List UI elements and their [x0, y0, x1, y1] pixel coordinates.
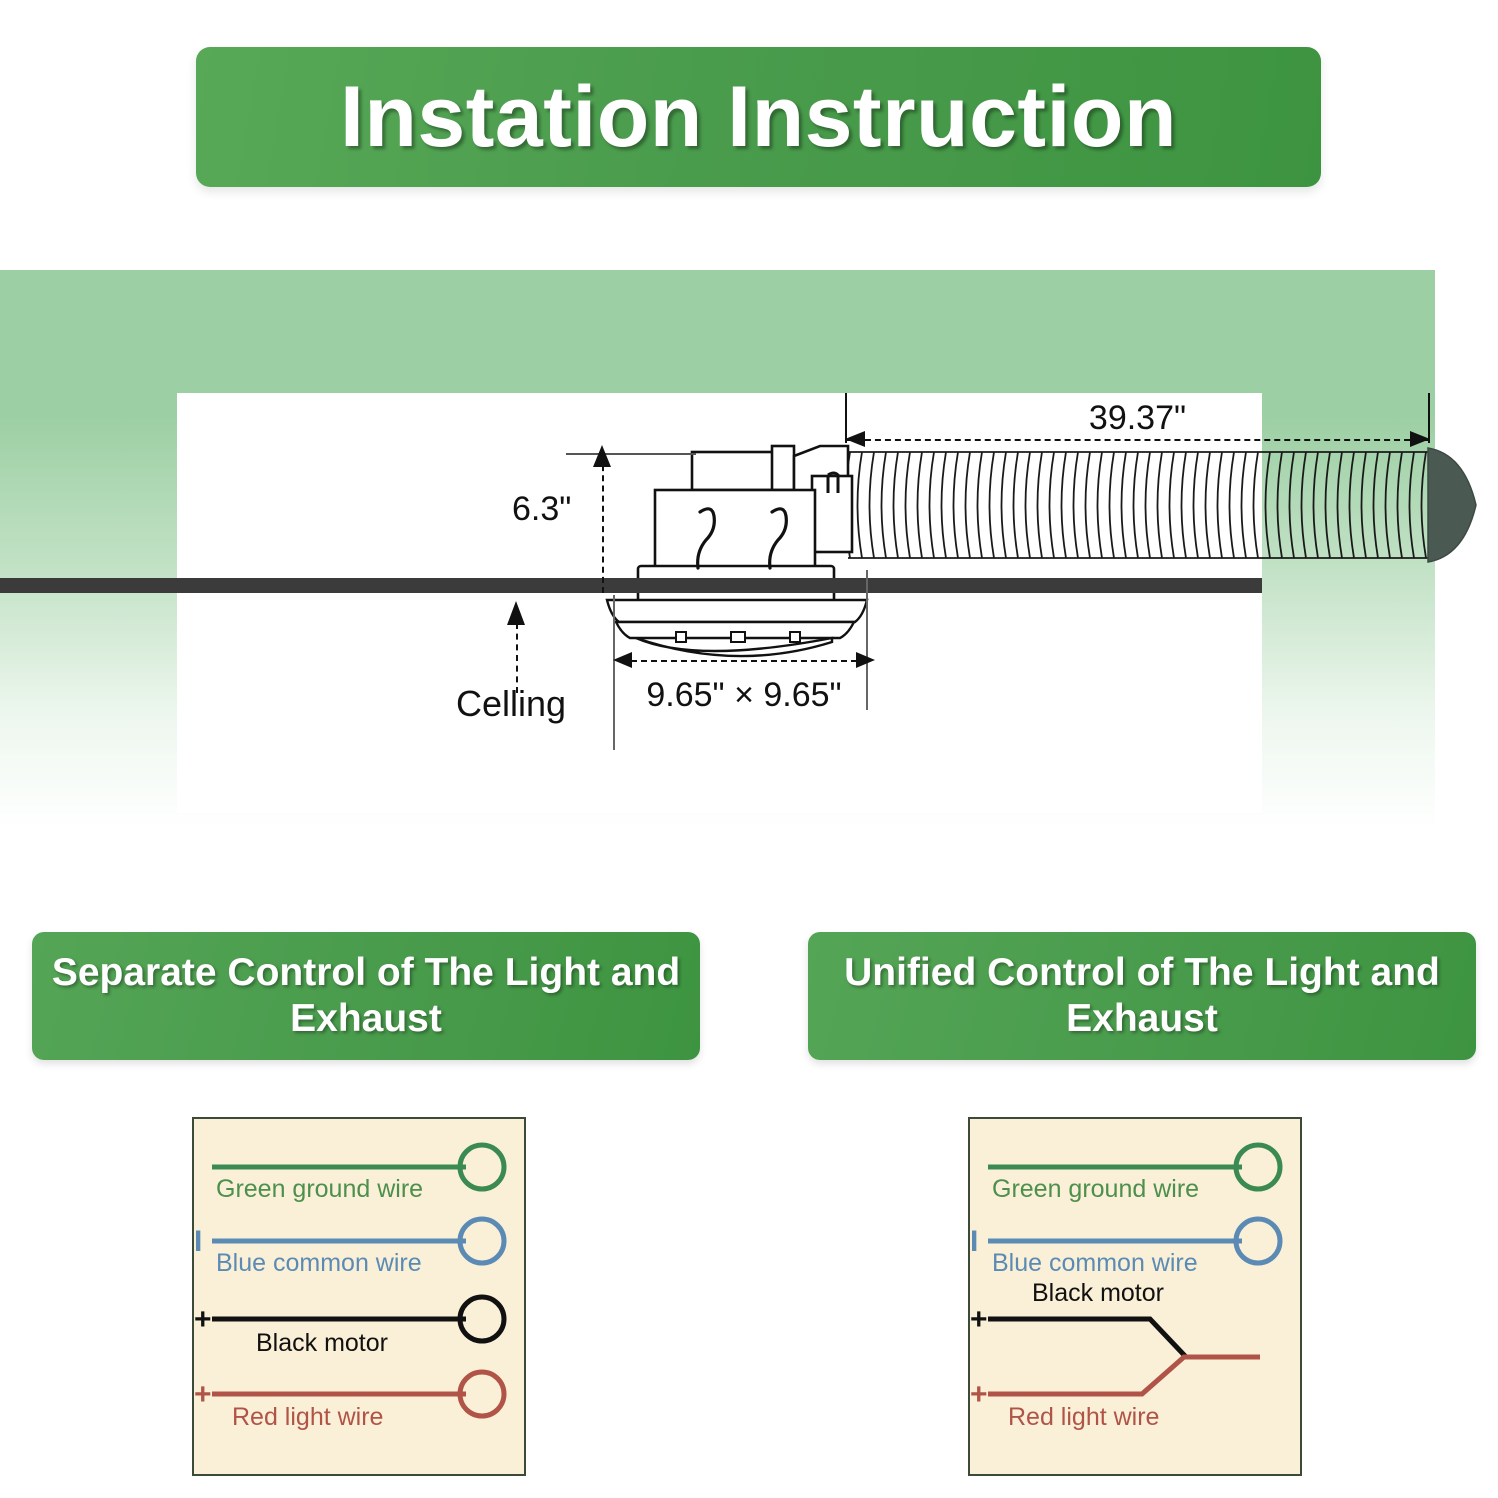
- ceiling-grille: [607, 600, 867, 656]
- wire-label-black: Black motor: [1032, 1279, 1164, 1307]
- terminal-circle-red: [460, 1372, 504, 1416]
- fan-and-duct-drawing: [0, 270, 1498, 830]
- section-header-label: Separate Control of The Light and Exhaus…: [32, 950, 700, 1042]
- installation-diagram: 39.37" 6.3" Celling 9.65" × 9.65": [0, 270, 1498, 830]
- wire-red-light: + Red light wire: [194, 1372, 504, 1431]
- wire-marker-black: +: [194, 1303, 212, 1336]
- wire-label-red: Red light wire: [232, 1403, 383, 1431]
- ceiling-arrow-up-icon: [507, 601, 525, 625]
- terminal-circle-green: [460, 1145, 504, 1189]
- height-extension-line: [566, 453, 696, 455]
- wire-green-ground: Green ground wire: [212, 1145, 504, 1203]
- terminal-circle-black: [460, 1297, 504, 1341]
- ceiling-slab: [0, 578, 1262, 593]
- wire-marker-blue: I: [194, 1225, 202, 1258]
- terminal-circle-blue: [1236, 1219, 1280, 1263]
- height-dimension-line: [602, 455, 604, 593]
- section-header-label: Unified Control of The Light and Exhaust: [808, 950, 1476, 1042]
- ceiling-callout: Celling: [462, 595, 592, 720]
- page-title: Instation Instruction: [340, 74, 1177, 160]
- section-header-separate-control: Separate Control of The Light and Exhaus…: [32, 932, 700, 1060]
- wire-label-green: Green ground wire: [216, 1175, 423, 1203]
- wire-blue-common: I Blue common wire: [194, 1219, 504, 1277]
- terminal-circle-green: [1236, 1145, 1280, 1189]
- wire-marker-red: +: [970, 1378, 988, 1411]
- wire-black-motor: + Black motor: [194, 1297, 504, 1357]
- unit-height-label: 6.3": [512, 490, 571, 529]
- terminal-circle-blue: [460, 1219, 504, 1263]
- dimension-line: [845, 439, 1430, 441]
- duct-length-label: 39.37": [845, 399, 1430, 438]
- wiring-diagram-unified-control: Green ground wire I Blue common wire + B…: [968, 1117, 1302, 1476]
- unit-footprint-label: 9.65" × 9.65": [603, 676, 885, 715]
- footprint-dimension-line: [621, 660, 867, 662]
- duct-length-dimension: 39.37": [845, 403, 1430, 453]
- wire-marker-black: +: [970, 1303, 988, 1336]
- wire-blue-common: I Blue common wire: [970, 1219, 1280, 1277]
- wire-black-motor: + Black motor: [970, 1279, 1186, 1357]
- unit-height-dimension: 6.3": [530, 445, 620, 595]
- wire-label-green: Green ground wire: [992, 1175, 1199, 1203]
- section-header-unified-control: Unified Control of The Light and Exhaust: [808, 932, 1476, 1060]
- flexible-duct: [846, 452, 1431, 558]
- footprint-arrow-right-icon: [856, 652, 875, 668]
- page-title-banner: Instation Instruction: [196, 47, 1321, 187]
- wire-label-black: Black motor: [256, 1329, 388, 1357]
- wire-label-blue: Blue common wire: [216, 1249, 422, 1277]
- wire-label-blue: Blue common wire: [992, 1249, 1198, 1277]
- wire-marker-blue: I: [970, 1225, 978, 1258]
- ceiling-label: Celling: [456, 683, 566, 725]
- unit-footprint-dimension: 9.65" × 9.65": [613, 650, 875, 725]
- footprint-arrow-left-icon: [613, 652, 632, 668]
- wall-vent-cap: [1428, 448, 1476, 562]
- wire-label-red: Red light wire: [1008, 1403, 1159, 1431]
- wire-marker-red: +: [194, 1378, 212, 1411]
- wire-red-light: + Red light wire: [970, 1357, 1260, 1431]
- height-arrow-up-icon: [593, 445, 611, 467]
- wiring-diagram-separate-control: Green ground wire I Blue common wire + B…: [192, 1117, 526, 1476]
- wire-green-ground: Green ground wire: [988, 1145, 1280, 1203]
